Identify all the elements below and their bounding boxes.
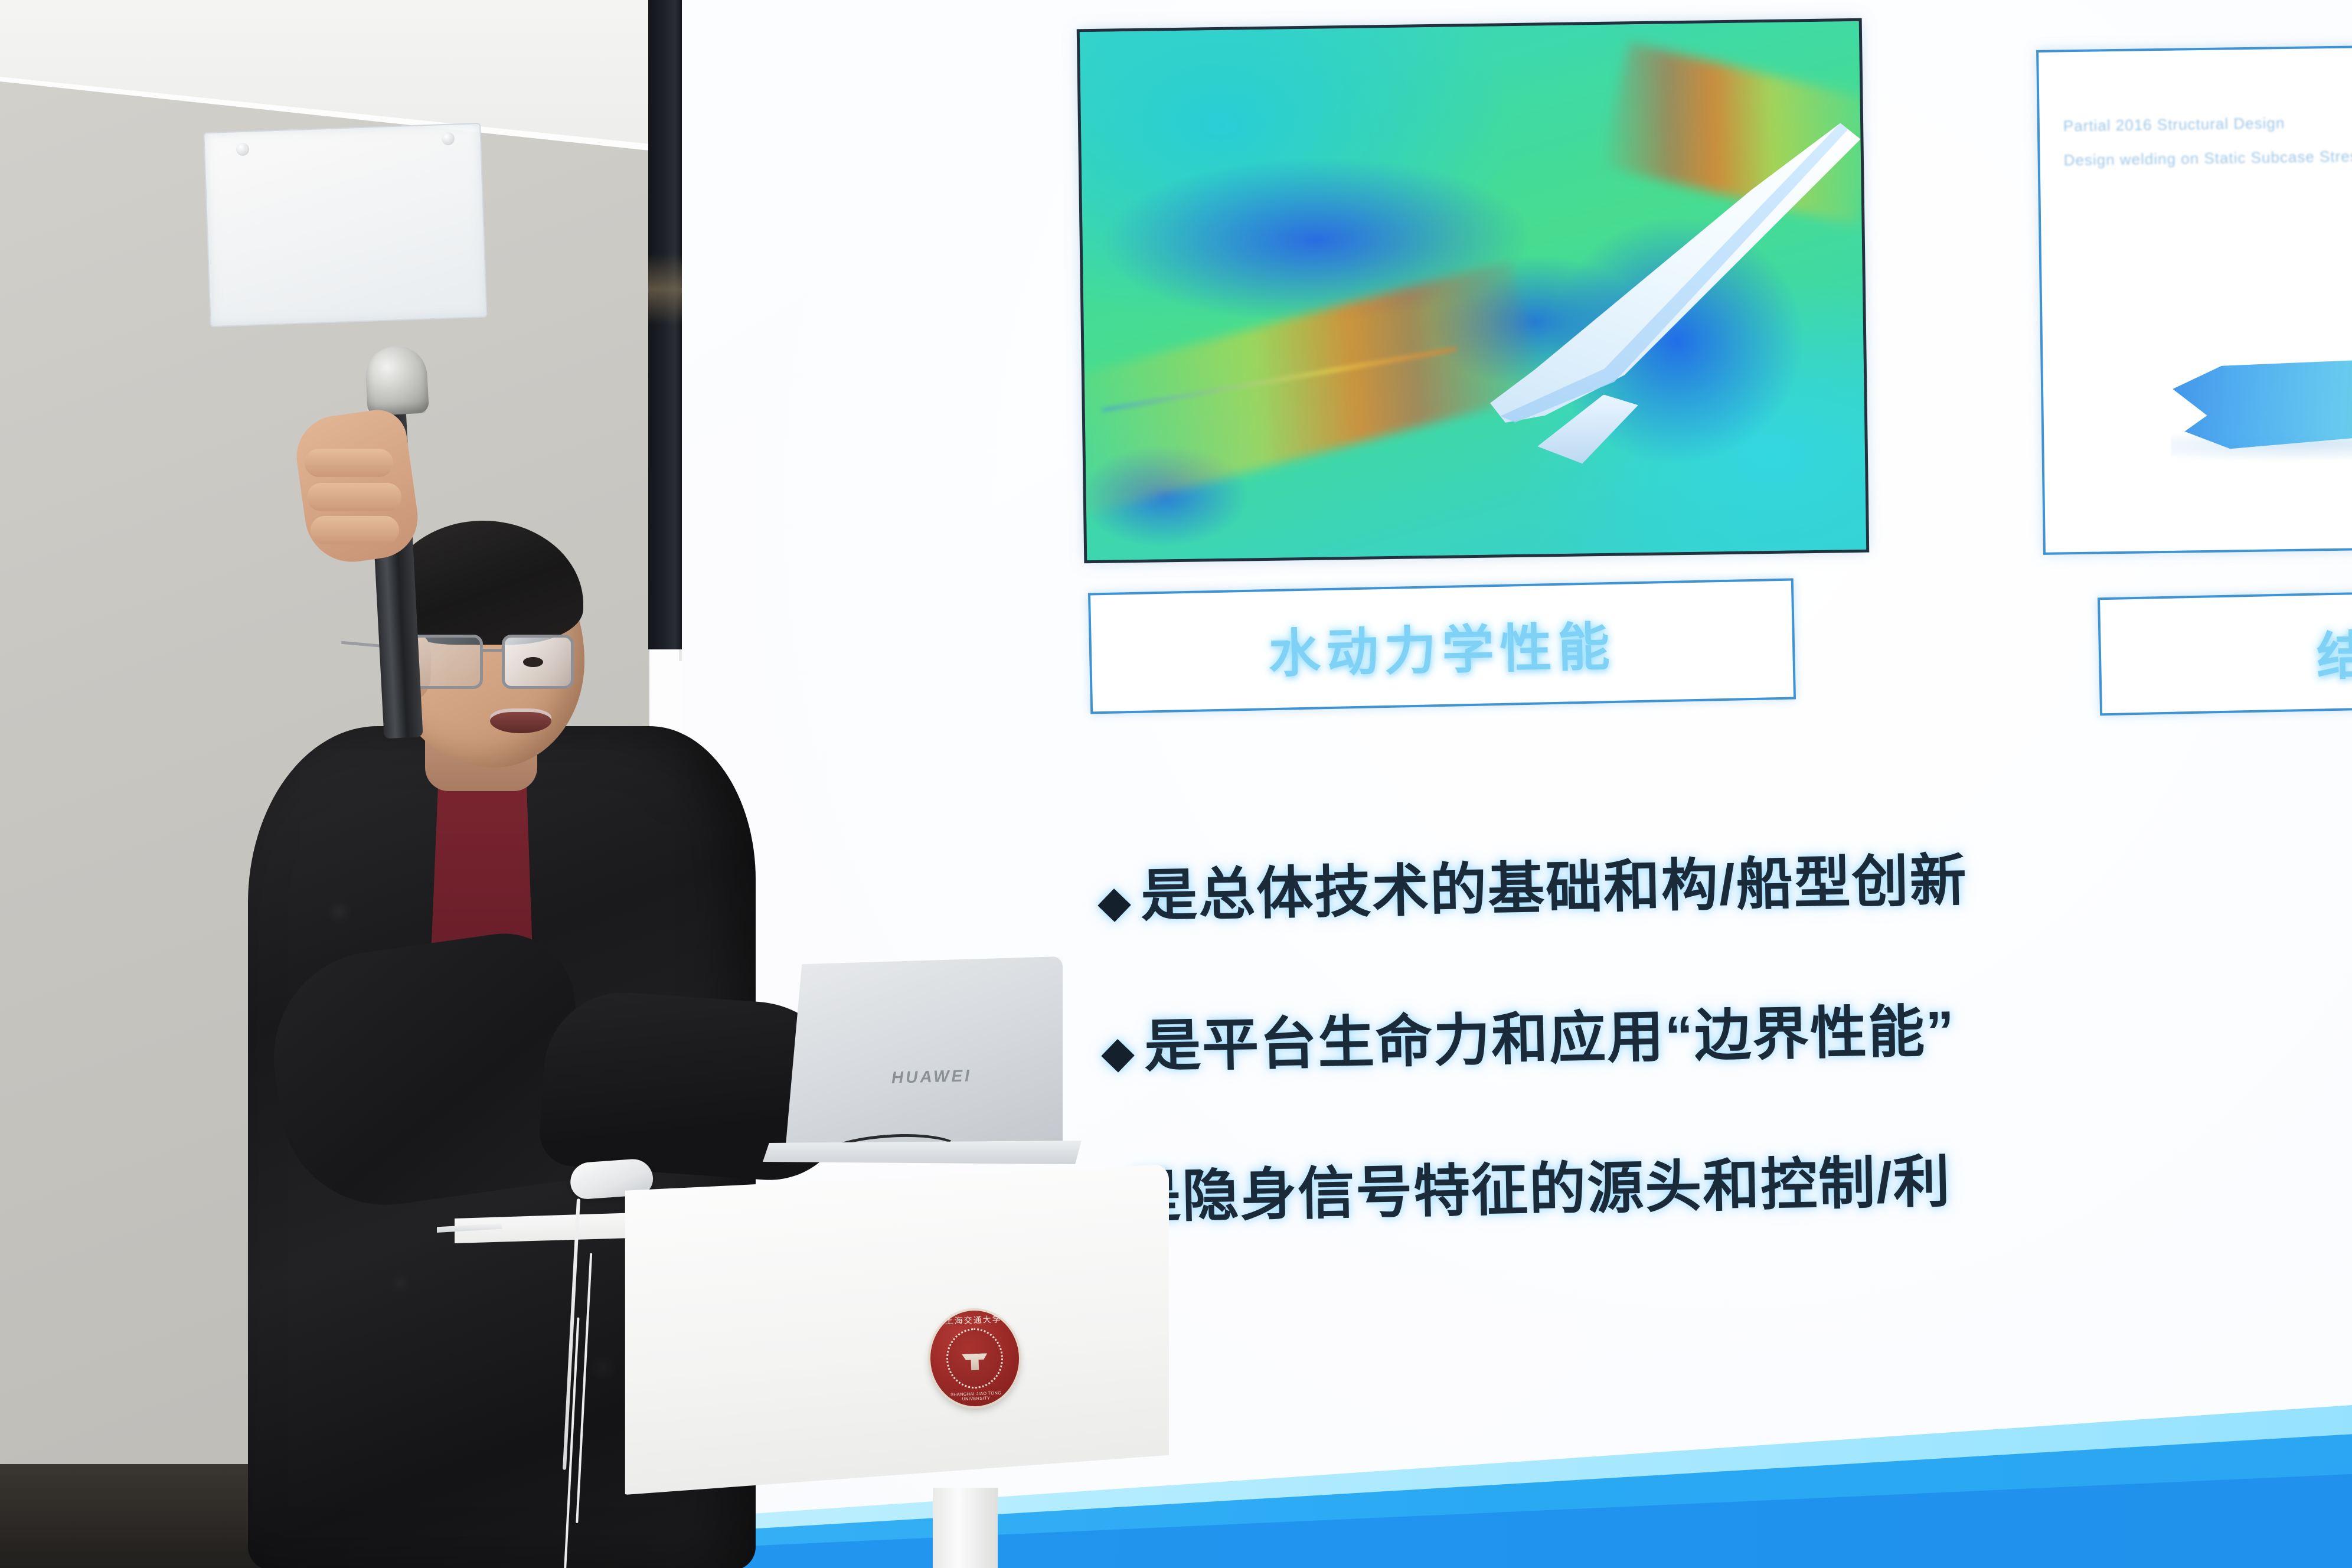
lectern-front-panel — [614, 1164, 1169, 1495]
emblem-inner-ring — [945, 1327, 1004, 1389]
plate-screw — [442, 132, 455, 145]
diamond-bullet-icon: ◆ — [1098, 881, 1132, 923]
university-emblem: 上海交通大学 SHANGHAI JIAO TONG UNIVERSITY — [929, 1309, 1021, 1407]
glasses-icon — [407, 635, 584, 691]
glasses-left-lens — [411, 635, 483, 689]
plate-screw — [236, 143, 249, 156]
presenter-eye — [523, 657, 543, 667]
bullet-item: ◆ 是总体技术的基础和构/船型创新 — [1097, 826, 2352, 933]
fea-title-line-2: Design welding on Static Subcase Stress … — [2063, 146, 2352, 169]
presenter-finger — [311, 516, 399, 544]
lectern — [614, 1122, 1216, 1568]
presenter-mouth — [490, 708, 551, 733]
emblem-anvil-icon — [958, 1346, 991, 1371]
fea-structure-figure: Partial 2016 Structural Design Design we… — [2036, 44, 2352, 555]
bullet-text: 是平台生命力和应用“边界性能” — [1144, 985, 1956, 1082]
bullet-text: 是隐身信号特征的源头和控制/利 — [1123, 1135, 1952, 1233]
lectern-column — [933, 1488, 998, 1568]
caption-box-hydrodynamic: 水动力学性能 — [1088, 579, 1796, 714]
emblem-chinese-text: 上海交通大学 — [929, 1312, 1018, 1327]
presenter-finger — [305, 449, 393, 477]
bullet-text: 是总体技术的基础和构/船型创新 — [1140, 834, 1968, 932]
glasses-bridge — [483, 649, 503, 652]
cfd-hydrodynamics-figure — [1080, 21, 1866, 560]
fea-title-line-1: Partial 2016 Structural Design — [2063, 114, 2285, 135]
diamond-bullet-icon: ◆ — [1102, 1031, 1135, 1073]
caption-text-hydrodynamic: 水动力学性能 — [1268, 605, 1616, 687]
bullet-item: ◆ 是平台生命力和应用“边界性能” — [1101, 976, 2352, 1083]
caption-box-structural: 结构性能 — [2098, 589, 2352, 716]
slide-bullet-list: ◆ 是总体技术的基础和构/船型创新 ◆ 是平台生命力和应用“边界性能” ◆ 是隐… — [1098, 838, 2352, 1290]
laptop-brand-label: HUAWEI — [873, 1066, 991, 1087]
caption-text-structural: 结构性能 — [2062, 610, 2352, 695]
presentation-scene: Partial 2016 Structural Design Design we… — [0, 0, 2352, 1568]
bullet-item: ◆ 是隐身信号特征的源头和控制/利 — [1123, 1126, 2352, 1233]
presenter-finger — [307, 483, 401, 511]
